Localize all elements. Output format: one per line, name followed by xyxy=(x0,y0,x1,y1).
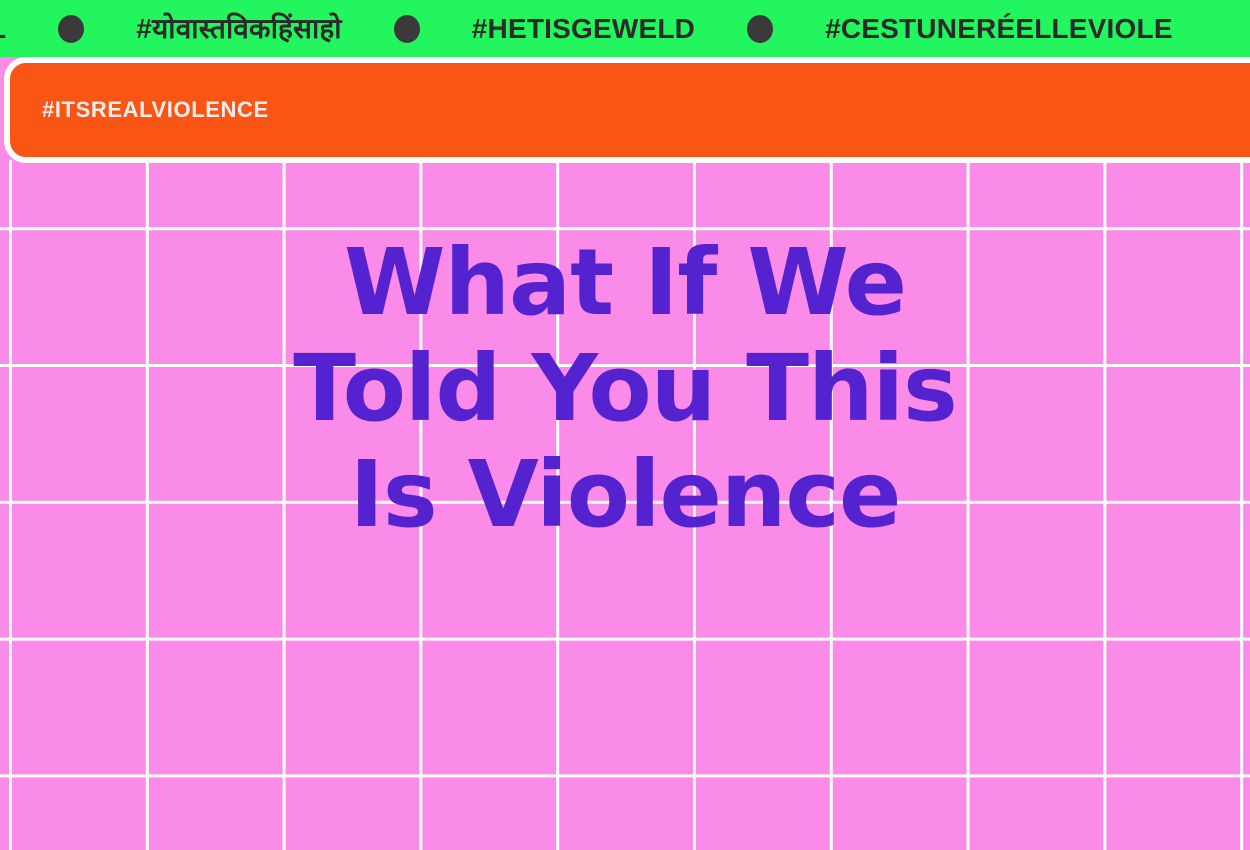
page-title: What If We Told You This Is Violence xyxy=(0,230,1250,548)
dot-separator-icon xyxy=(394,15,420,43)
campaign-banner[interactable]: #ITSREALVIOLENCE xyxy=(4,57,1250,163)
page-root: NCIAREAL #योवास्तविकहिंसाहो #HETISGEWELD… xyxy=(0,0,1250,850)
campaign-hashtag-label: #ITSREALVIOLENCE xyxy=(42,99,269,121)
hashtag-ticker: NCIAREAL #योवास्तविकहिंसाहो #HETISGEWELD… xyxy=(0,0,1250,57)
ticker-item-3: #CESTUNERÉELLEVIOLE xyxy=(825,15,1173,43)
headline-line-1: What If We xyxy=(0,230,1250,336)
ticker-item-2: #HETISGEWELD xyxy=(472,15,695,43)
headline-line-2: Told You This xyxy=(0,336,1250,442)
ticker-item-0: NCIAREAL xyxy=(0,15,6,43)
ticker-track: NCIAREAL #योवास्तविकहिंसाहो #HETISGEWELD… xyxy=(0,15,1173,43)
ticker-item-1: #योवास्तविकहिंसाहो xyxy=(136,15,341,43)
dot-separator-icon xyxy=(747,15,773,43)
dot-separator-icon xyxy=(58,15,84,43)
headline-line-3: Is Violence xyxy=(0,442,1250,548)
